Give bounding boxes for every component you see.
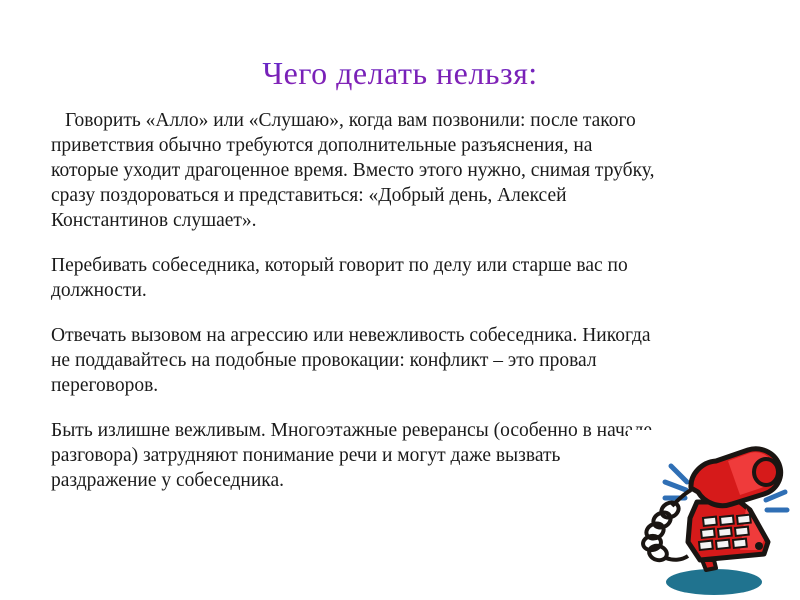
- phone-foot: [702, 560, 716, 570]
- body-paragraph-1: Говорить «Алло» или «Слушаю», когда вам …: [51, 108, 655, 233]
- phone-knob: [755, 542, 763, 550]
- presentation-slide: Чего делать нельзя: Говорить «Алло» или …: [0, 0, 800, 600]
- slide-body-text: Говорить «Алло» или «Слушаю», когда вам …: [51, 108, 655, 493]
- handset-earpiece: [754, 459, 778, 485]
- body-paragraph-4: Быть излишне вежливым. Многоэтажные реве…: [51, 418, 655, 493]
- body-paragraph-2: Перебивать собеседника, который говорит …: [51, 253, 655, 303]
- page-title: Чего делать нельзя:: [0, 55, 800, 92]
- body-paragraph-3: Отвечать вызовом на агрессию или невежли…: [51, 323, 655, 398]
- phone-cord: [642, 490, 691, 562]
- ringing-telephone-icon: [628, 430, 800, 600]
- phone-keypad: [699, 515, 751, 550]
- phone-shadow-ellipse: [666, 569, 762, 595]
